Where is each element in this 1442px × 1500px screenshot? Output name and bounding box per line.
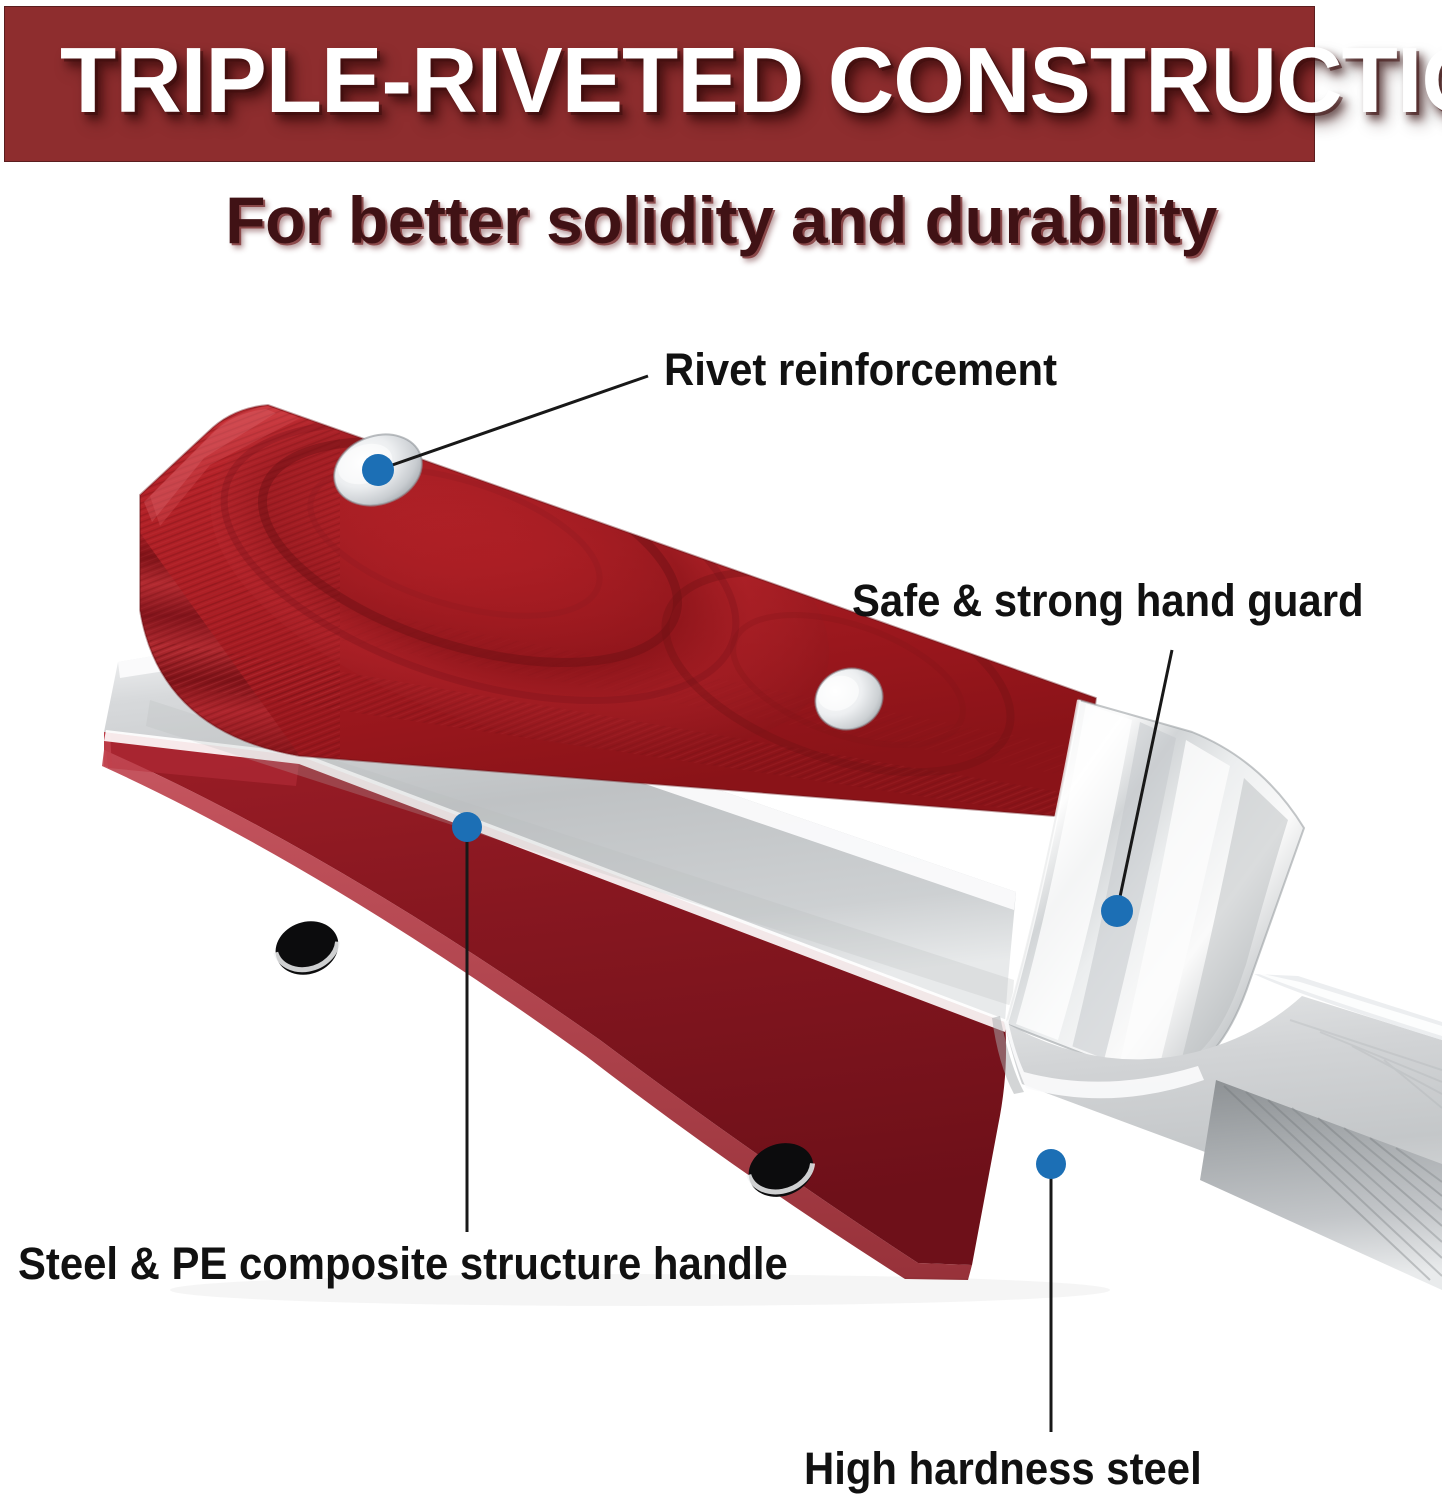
callout-label-high-hardness-steel: High hardness steel — [804, 1443, 1202, 1495]
callout-label-composite-handle: Steel & PE composite structure handle — [18, 1238, 788, 1290]
callout-label-hand-guard: Safe & strong hand guard — [852, 575, 1364, 627]
knife-illustration — [0, 280, 1442, 1400]
infographic-page: TRIPLE-RIVETED CONSTRUCTION For better s… — [0, 0, 1442, 1500]
callout-label-rivet-reinforcement: Rivet reinforcement — [664, 344, 1057, 396]
page-title: TRIPLE-RIVETED CONSTRUCTION — [60, 26, 1288, 134]
page-subtitle: For better solidity and durability — [0, 182, 1442, 258]
